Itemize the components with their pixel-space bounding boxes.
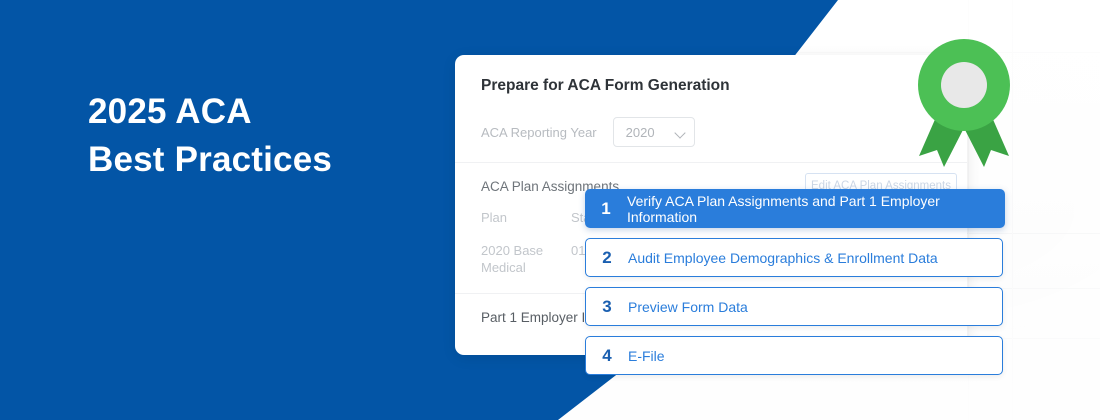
reporting-year-field: ACA Reporting Year 2020 [481,117,695,147]
card-title: Prepare for ACA Form Generation [481,77,730,95]
step-number: 2 [586,248,628,268]
step-item-3[interactable]: 3 Preview Form Data [585,287,1003,326]
promo-banner: 2025 ACA Best Practices Prepare for ACA … [0,0,1100,420]
step-label: Preview Form Data [628,299,748,315]
step-label: E-File [628,348,665,364]
reporting-year-select[interactable]: 2020 [613,117,695,147]
column-header-plan: Plan [481,210,571,225]
reporting-year-label: ACA Reporting Year [481,125,597,140]
page-title: 2025 ACA Best Practices [88,88,332,184]
steps-list: 1 Verify ACA Plan Assignments and Part 1… [585,189,1005,385]
part1-employer-info-label: Part 1 Employer Inf [481,310,597,325]
step-label: Audit Employee Demographics & Enrollment… [628,250,938,266]
chevron-down-icon [674,127,685,138]
divider [455,162,967,163]
step-number: 3 [586,297,628,317]
cell-plan: 2020 Base Medical [481,242,571,276]
step-label: Verify ACA Plan Assignments and Part 1 E… [627,193,1005,225]
reporting-year-value: 2020 [626,125,655,140]
step-number: 4 [586,346,628,366]
step-number: 1 [585,199,627,219]
award-ribbon-icon [915,36,1013,170]
step-item-2[interactable]: 2 Audit Employee Demographics & Enrollme… [585,238,1003,277]
step-item-1[interactable]: 1 Verify ACA Plan Assignments and Part 1… [585,189,1005,228]
step-item-4[interactable]: 4 E-File [585,336,1003,375]
